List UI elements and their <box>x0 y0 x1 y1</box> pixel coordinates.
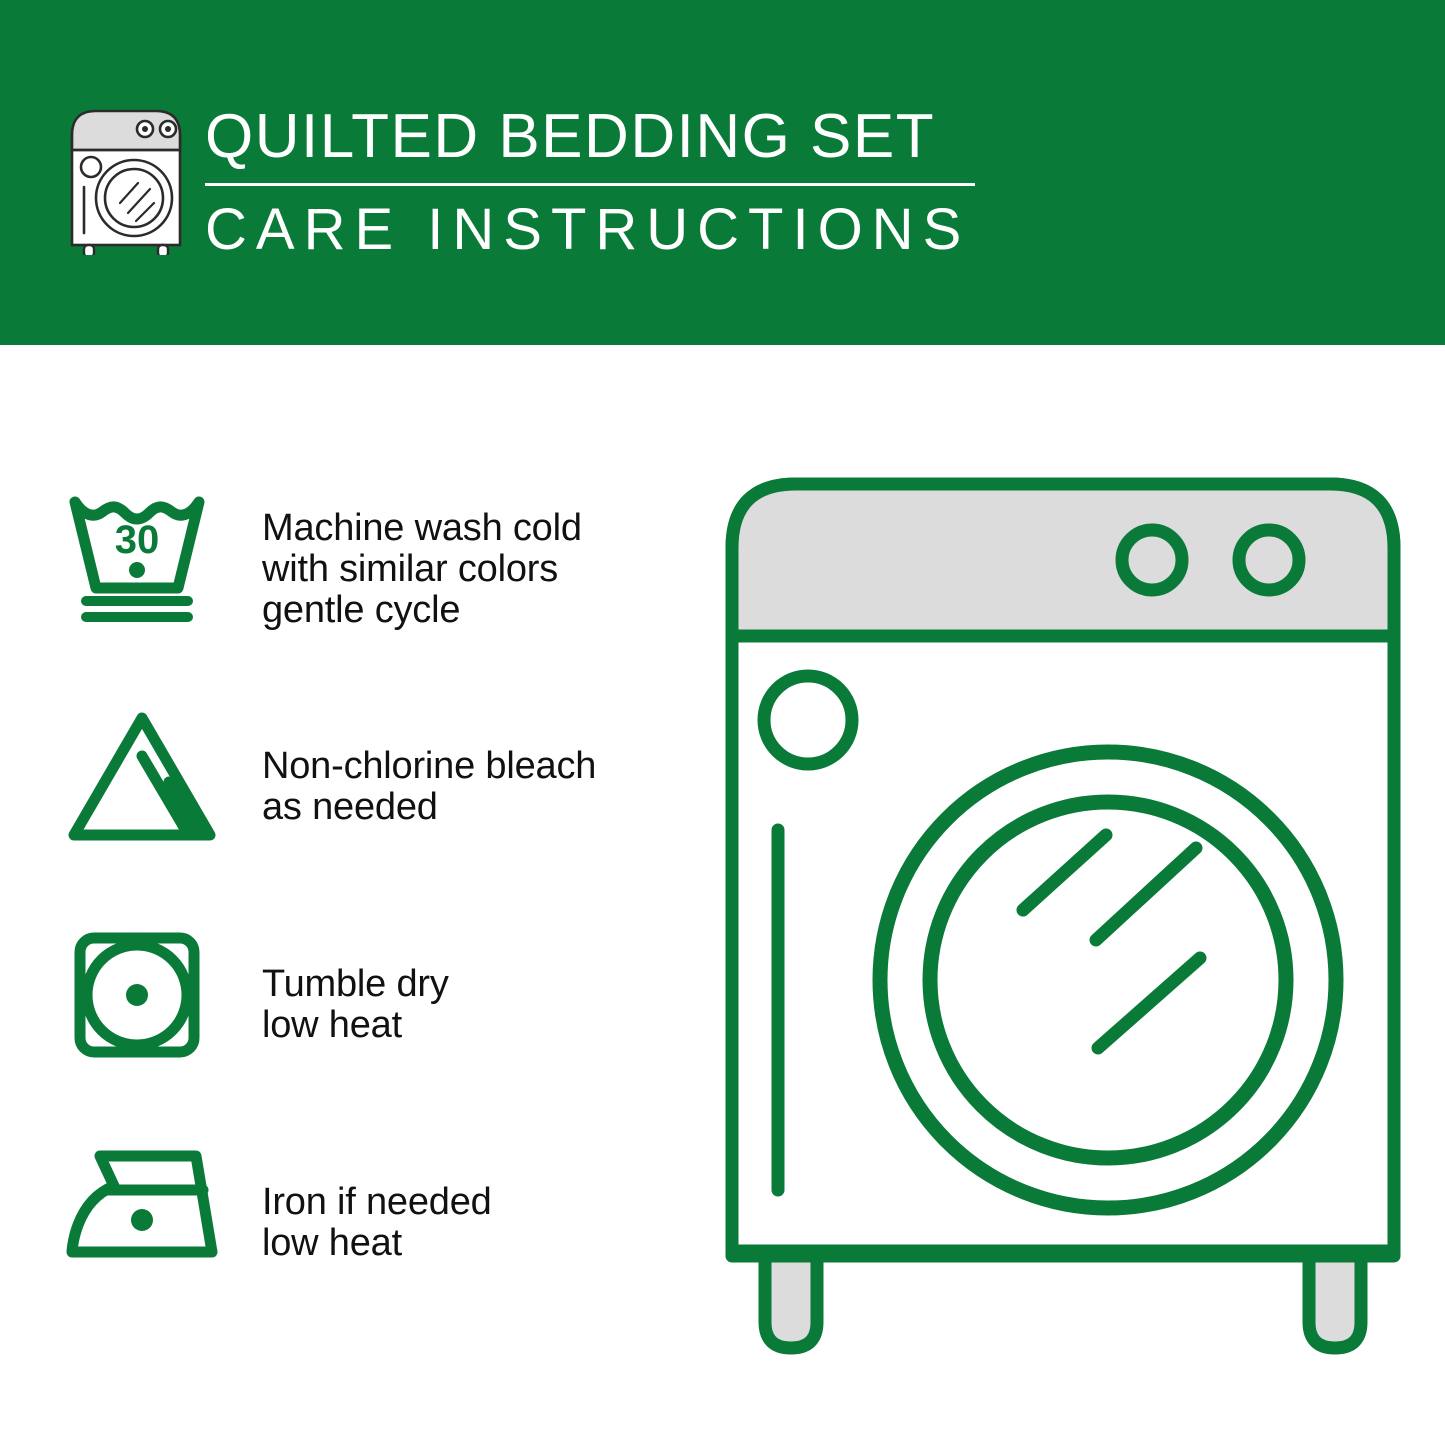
instruction-text-bleach: Non-chlorine bleach as needed <box>262 698 702 828</box>
title-divider <box>205 183 975 186</box>
instruction-line: Iron if needed <box>262 1182 702 1223</box>
header-band: QUILTED BEDDING SET CARE INSTRUCTIONS <box>0 0 1445 345</box>
wash-temperature-label: 30 <box>115 518 160 562</box>
page-title: QUILTED BEDDING SET <box>205 100 985 174</box>
instruction-line: as needed <box>262 787 702 828</box>
control-knob <box>1239 530 1299 590</box>
instruction-row-dry: Tumble dry low heat <box>62 916 702 1134</box>
instruction-line: with similar colors <box>262 549 702 590</box>
front-load-washing-machine-illustration <box>718 470 1408 1370</box>
instruction-line: low heat <box>262 1005 702 1046</box>
instruction-line: Non-chlorine bleach <box>262 746 702 787</box>
care-instructions-page: QUILTED BEDDING SET CARE INSTRUCTIONS 30 <box>0 0 1445 1445</box>
door-inner-ring <box>930 802 1286 1158</box>
bleach-triangle-icon <box>62 698 262 849</box>
instruction-row-wash: 30 Machine wash cold with similar colors… <box>62 480 702 698</box>
indicator-circle <box>764 676 852 764</box>
instruction-list: 30 Machine wash cold with similar colors… <box>62 480 702 1352</box>
instruction-line: gentle cycle <box>262 590 702 631</box>
page-subtitle: CARE INSTRUCTIONS <box>205 196 985 264</box>
instruction-row-bleach: Non-chlorine bleach as needed <box>62 698 702 916</box>
header-text-block: QUILTED BEDDING SET CARE INSTRUCTIONS <box>205 100 985 264</box>
instruction-text-dry: Tumble dry low heat <box>262 916 702 1046</box>
tumble-dry-icon <box>62 916 262 1067</box>
iron-icon <box>62 1134 262 1270</box>
instruction-line: Tumble dry <box>262 964 702 1005</box>
instruction-text-wash: Machine wash cold with similar colors ge… <box>262 480 702 631</box>
instruction-line: Machine wash cold <box>262 508 702 549</box>
instruction-row-iron: Iron if needed low heat <box>62 1134 702 1352</box>
instruction-text-iron: Iron if needed low heat <box>262 1134 702 1264</box>
instruction-line: low heat <box>262 1223 702 1264</box>
washing-machine-icon <box>62 103 190 255</box>
control-knob <box>1122 530 1182 590</box>
wash-tub-icon: 30 <box>62 480 262 626</box>
